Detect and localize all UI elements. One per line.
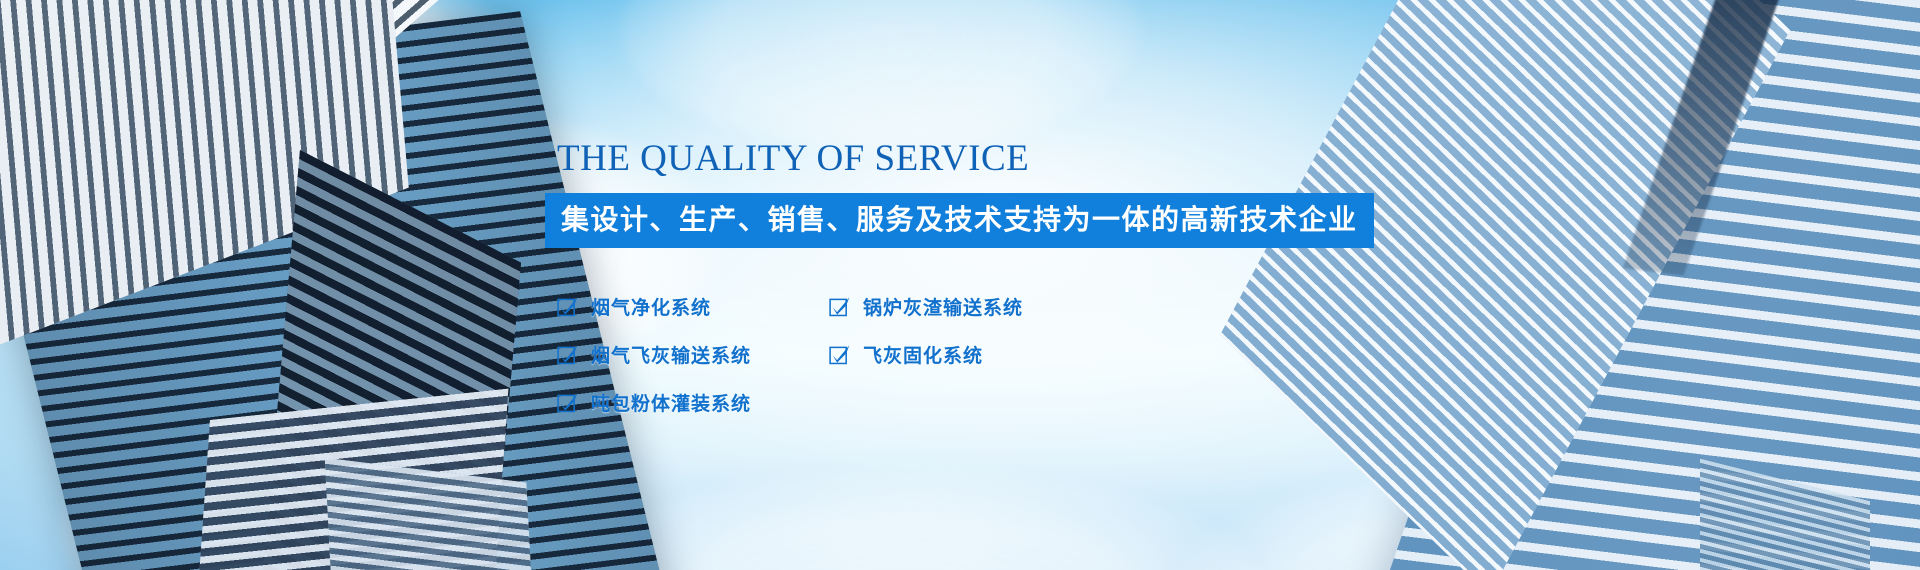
list-item[interactable]: 锅炉灰渣输送系统 bbox=[829, 293, 1415, 320]
checkbox-checked-icon bbox=[557, 392, 579, 414]
page-title: THE QUALITY OF SERVICE bbox=[557, 140, 1415, 179]
list-item[interactable]: 烟气飞灰输送系统 bbox=[557, 341, 829, 368]
list-item[interactable]: 吨包粉体灌装系统 bbox=[557, 389, 829, 416]
banner-content: THE QUALITY OF SERVICE 集设计、生产、销售、服务及技术支持… bbox=[545, 140, 1415, 427]
checkbox-checked-icon bbox=[829, 344, 851, 366]
checkbox-checked-icon bbox=[557, 296, 579, 318]
list-item-label: 烟气飞灰输送系统 bbox=[591, 341, 751, 368]
list-item-label: 飞灰固化系统 bbox=[863, 341, 983, 368]
checkbox-checked-icon bbox=[829, 296, 851, 318]
cloud-shape bbox=[560, 470, 1260, 570]
tagline-banner: 集设计、生产、销售、服务及技术支持为一体的高新技术企业 bbox=[545, 193, 1374, 248]
list-item-label: 吨包粉体灌装系统 bbox=[591, 389, 751, 416]
hero-banner: THE QUALITY OF SERVICE 集设计、生产、销售、服务及技术支持… bbox=[0, 0, 1920, 570]
checkbox-checked-icon bbox=[557, 344, 579, 366]
feature-list: 烟气净化系统 锅炉灰渣输送系统 烟气飞灰输送系统 bbox=[557, 283, 1415, 427]
cloud-shape bbox=[620, 0, 1140, 150]
list-item[interactable]: 飞灰固化系统 bbox=[829, 341, 1415, 368]
list-item[interactable]: 烟气净化系统 bbox=[557, 293, 829, 320]
list-item-label: 烟气净化系统 bbox=[591, 293, 711, 320]
list-item-label: 锅炉灰渣输送系统 bbox=[863, 293, 1023, 320]
